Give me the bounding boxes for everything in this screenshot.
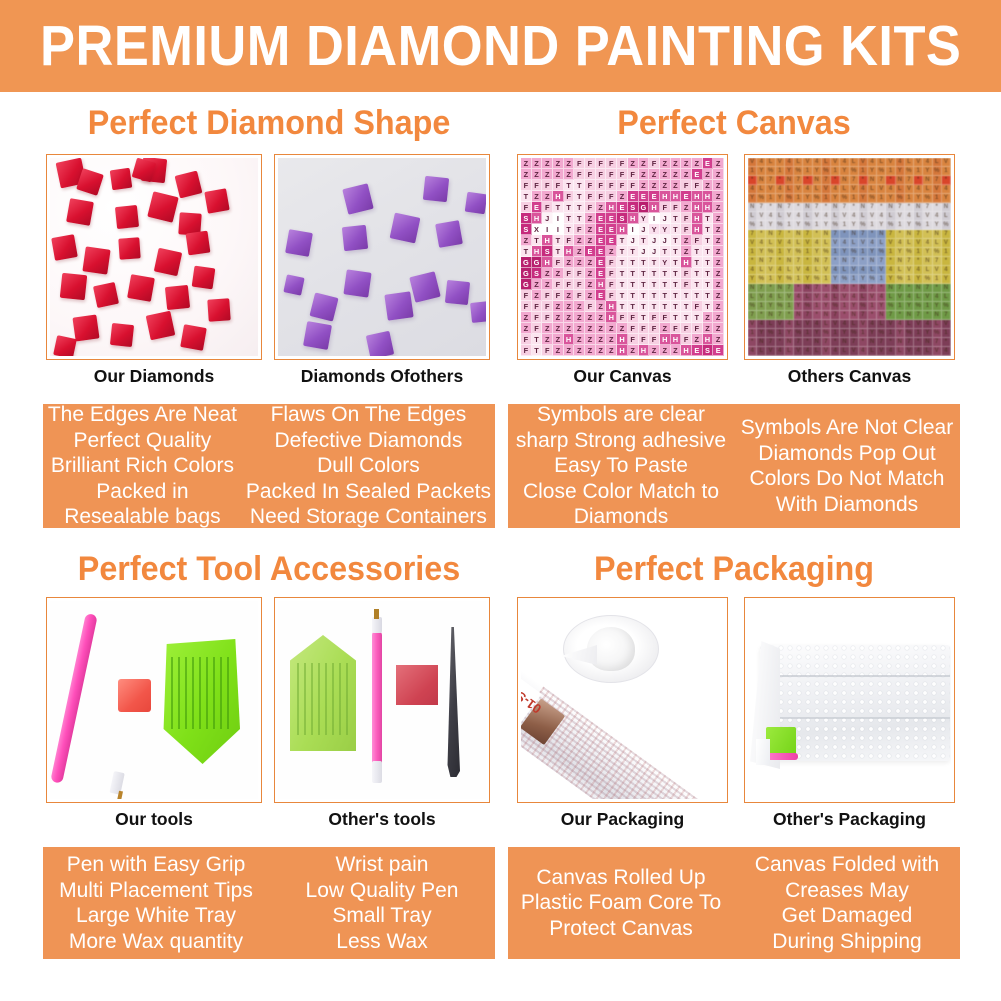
blurry-canvas-cell: 4 (803, 347, 812, 356)
canvas-symbol-cell: Z (713, 235, 724, 246)
canvas-symbol-cell: T (660, 301, 671, 312)
blurry-canvas-cell: V (840, 293, 849, 302)
canvas-symbol-cell: Z (628, 158, 639, 169)
diamond-bead (435, 220, 463, 248)
blurry-canvas-cell: N (942, 203, 951, 212)
blurry-canvas-cell: 7 (776, 230, 785, 239)
blurry-canvas-cell: % (886, 302, 895, 311)
canvas-symbol-cell: T (692, 268, 703, 279)
image-frame-our-canvas: ZZZZZFFFFFZZFZZZZEZZZZZZFFFFFFZZZZZEZZFF… (517, 154, 728, 360)
blurry-canvas-cell: * (933, 203, 942, 212)
canvas-symbol-cell: Z (660, 345, 671, 356)
blurry-canvas-cell: L (840, 266, 849, 275)
feature-item: Packed in (96, 479, 188, 505)
canvas-symbol-cell: Z (553, 312, 564, 323)
canvas-symbol-cell: Z (639, 169, 650, 180)
feature-list-our-tools: Pen with Easy GripMulti Placement TipsLa… (43, 847, 269, 959)
blurry-canvas-cell: 1 (905, 194, 914, 203)
blurry-canvas-cell: L (757, 347, 766, 356)
canvas-symbol-cell: Z (713, 323, 724, 334)
canvas-symbol-cell: F (574, 290, 585, 301)
blurry-canvas-cell: * (748, 176, 757, 185)
blurry-canvas-cell: 7 (785, 284, 794, 293)
canvas-symbol-cell: E (692, 345, 703, 356)
blurry-canvas-cell: L (923, 266, 932, 275)
feature-item: Need Storage Containers (250, 504, 487, 530)
blurry-canvas-cell: * (886, 338, 895, 347)
canvas-symbol-cell: T (617, 279, 628, 290)
blurry-canvas-cell: V (877, 185, 886, 194)
canvas-symbol-cell: Z (596, 345, 607, 356)
blurry-canvas-cell: Y (923, 248, 932, 257)
canvas-symbol-cell: T (660, 290, 671, 301)
blurry-canvas-cell: % (803, 221, 812, 230)
blurry-canvas-cell: L (896, 266, 905, 275)
blurry-canvas-cell: 4 (785, 320, 794, 329)
blurry-canvas-cell: L (822, 320, 831, 329)
blurry-canvas-cell: 7 (748, 230, 757, 239)
blurry-canvas-cell: L (840, 347, 849, 356)
blurry-canvas-cell: 4 (942, 347, 951, 356)
blurry-canvas-cell: % (813, 194, 822, 203)
blurry-canvas-cell: % (850, 329, 859, 338)
blurry-canvas-cell: V (813, 293, 822, 302)
blurry-canvas-cell: * (840, 230, 849, 239)
blurry-canvas-cell: 4 (896, 320, 905, 329)
blurry-canvas-cell: * (859, 257, 868, 266)
section-heading-tools: Perfect Tool Accessories (54, 550, 483, 589)
canvas-symbol-cell: Z (713, 202, 724, 213)
blurry-canvas-cell: 1 (850, 194, 859, 203)
caption-other-packaging: Other's Packaging (744, 809, 955, 830)
canvas-symbol-cell: Z (596, 323, 607, 334)
pink-symbol-canvas-photo: ZZZZZFFFFFZZFZZZZEZZZZZZFFFFFFZZZZZEZZFF… (521, 158, 724, 356)
blurry-canvas-cell: 7 (831, 311, 840, 320)
blurry-canvas-cell: 1 (942, 248, 951, 257)
canvas-symbol-cell: T (649, 290, 660, 301)
blurry-canvas-cell: 1 (886, 248, 895, 257)
blurry-canvas-cell: * (813, 311, 822, 320)
blurry-canvas-cell: 4 (868, 320, 877, 329)
canvas-symbol-cell: Z (681, 202, 692, 213)
blurry-canvas-cell: * (896, 230, 905, 239)
canvas-symbol-cell: I (542, 224, 553, 235)
blurry-canvas-cell: 4 (757, 239, 766, 248)
blurry-canvas-cell: N (905, 230, 914, 239)
blurry-canvas-cell: Y (886, 275, 895, 284)
blurry-canvas-cell: L (933, 239, 942, 248)
blurry-canvas-cell: % (877, 248, 886, 257)
blurry-canvas-cell: % (822, 248, 831, 257)
diamond-bead (127, 274, 155, 302)
blurry-canvas-cell: 7 (942, 230, 951, 239)
canvas-symbol-cell: Z (553, 169, 564, 180)
canvas-symbol-cell: F (671, 202, 682, 213)
feature-list-our-diamonds: The Edges Are NeatPerfect QualityBrillia… (43, 404, 242, 528)
canvas-symbol-cell: Z (574, 334, 585, 345)
blurry-canvas-cell: 7 (886, 311, 895, 320)
blurry-canvas-cell: L (785, 266, 794, 275)
blurry-canvas-cell: 4 (831, 347, 840, 356)
blurry-canvas-cell: % (933, 329, 942, 338)
canvas-symbol-cell: Z (713, 301, 724, 312)
canvas-symbol-cell: F (532, 180, 543, 191)
blurry-canvas-cell: 1 (914, 167, 923, 176)
blurry-canvas-cell: Y (896, 167, 905, 176)
blurry-canvas-cell: N (776, 284, 785, 293)
blurry-canvas-cell: * (923, 230, 932, 239)
canvas-symbol-cell: Z (585, 323, 596, 334)
blurry-canvas-cell: 7 (840, 284, 849, 293)
blurry-canvas-cell: 4 (794, 293, 803, 302)
blurry-canvas-cell: V (766, 185, 775, 194)
blurry-canvas-cell: 7 (905, 257, 914, 266)
blurry-canvas-cell: * (914, 257, 923, 266)
blurry-canvas-cell: Y (813, 167, 822, 176)
canvas-symbol-cell: F (564, 191, 575, 202)
blurry-canvas-cell: N (803, 284, 812, 293)
blurry-canvas-cell: Y (923, 329, 932, 338)
blurry-canvas-cell: * (942, 338, 951, 347)
blurry-canvas-cell: 4 (776, 266, 785, 275)
blurry-canvas-cell: L (868, 266, 877, 275)
canvas-symbol-cell: I (628, 224, 639, 235)
blurry-canvas-cell: L (859, 293, 868, 302)
canvas-symbol-cell: Z (574, 345, 585, 356)
canvas-symbol-cell: S (617, 213, 628, 224)
other-pen-ferrule-bottom (372, 761, 382, 783)
canvas-symbol-cell: Z (713, 257, 724, 268)
small-tray-pen-tweezers-photo (278, 601, 486, 799)
canvas-symbol-cell: T (574, 191, 585, 202)
blurry-canvas-cell: % (868, 275, 877, 284)
canvas-symbol-cell: Z (713, 169, 724, 180)
blurry-canvas-cell: 4 (822, 212, 831, 221)
blurry-canvas-cell: 7 (766, 257, 775, 266)
blurry-canvas-cell: 7 (813, 203, 822, 212)
canvas-symbol-cell: Z (606, 345, 617, 356)
blurry-canvas-cell: V (794, 347, 803, 356)
feature-list-other-diamonds: Flaws On The EdgesDefective DiamondsDull… (242, 404, 495, 528)
blurry-canvas-cell: V (748, 158, 757, 167)
canvas-symbol-cell: F (564, 235, 575, 246)
blurry-canvas-cell: 4 (914, 347, 923, 356)
blurry-canvas-cell: Y (886, 194, 895, 203)
blurry-canvas-cell: 1 (850, 275, 859, 284)
canvas-symbol-cell: F (542, 180, 553, 191)
blurry-canvas-cell: L (886, 212, 895, 221)
canvas-symbol-cell: Z (553, 158, 564, 169)
blurry-canvas-cell: 4 (923, 158, 932, 167)
blurry-canvas-cell: N (831, 203, 840, 212)
canvas-symbol-cell: E (628, 191, 639, 202)
canvas-symbol-cell: Z (585, 312, 596, 323)
blurry-canvas-cell: V (877, 347, 886, 356)
blurry-canvas-cell: * (923, 311, 932, 320)
blurry-canvas-cell: V (766, 347, 775, 356)
feature-item: Symbols Are Not Clear (741, 415, 953, 441)
blurry-canvas-cell: % (942, 221, 951, 230)
blurry-canvas-cell: 7 (859, 311, 868, 320)
blurry-canvas-cell: Y (914, 194, 923, 203)
other-pen-barrel (372, 631, 382, 767)
blurry-canvas-cell: 7 (877, 338, 886, 347)
blurry-canvas-cell: V (896, 212, 905, 221)
blurry-canvas-cell: V (850, 347, 859, 356)
blurry-canvas-cell: 7 (859, 230, 868, 239)
blurry-canvas-cell: Y (831, 275, 840, 284)
blurry-canvas-cell: 7 (942, 311, 951, 320)
section-heading-diamond-shape: Perfect Diamond Shape (54, 104, 483, 143)
blurry-canvas-cell: Y (822, 221, 831, 230)
feature-item: Protect Canvas (549, 916, 693, 942)
blurry-canvas-cell: Y (776, 275, 785, 284)
blurry-canvas-cell: 4 (859, 347, 868, 356)
blurry-canvas-cell: 1 (896, 302, 905, 311)
blurry-canvas-cell: V (933, 266, 942, 275)
canvas-symbol-cell: H (703, 191, 714, 202)
canvas-symbol-cell: Z (617, 323, 628, 334)
blurry-canvas-cell: 4 (803, 185, 812, 194)
canvas-symbol-cell: Z (681, 246, 692, 257)
canvas-symbol-cell: Z (649, 180, 660, 191)
canvas-symbol-cell: Z (532, 191, 543, 202)
canvas-symbol-cell: F (532, 312, 543, 323)
canvas-symbol-cell: Z (713, 180, 724, 191)
canvas-symbol-cell: H (542, 235, 553, 246)
caption-other-canvas: Others Canvas (744, 366, 955, 387)
blurry-canvas-cell: N (757, 338, 766, 347)
diamond-bead (109, 167, 132, 190)
blurry-canvas-cell: V (776, 320, 785, 329)
blurry-canvas-cell: 4 (868, 239, 877, 248)
blurry-canvas-cell: V (859, 320, 868, 329)
blurry-canvas-cell: L (933, 320, 942, 329)
blurry-canvas-cell: 1 (822, 275, 831, 284)
canvas-symbol-cell: Z (564, 257, 575, 268)
blurry-canvas-cell: N (896, 257, 905, 266)
canvas-symbol-cell: H (532, 213, 543, 224)
canvas-symbol-cell: F (617, 169, 628, 180)
canvas-symbol-cell: E (639, 191, 650, 202)
blurry-canvas-cell: Y (933, 221, 942, 230)
blurry-canvas-cell: V (914, 320, 923, 329)
canvas-symbol-cell: T (671, 290, 682, 301)
canvas-symbol-cell: H (564, 246, 575, 257)
blurry-canvas-cell: 1 (840, 221, 849, 230)
canvas-symbol-cell: F (542, 312, 553, 323)
blurry-canvas-cell: 1 (877, 275, 886, 284)
blurry-canvas-cell: % (886, 221, 895, 230)
blurry-canvas-cell: 1 (757, 221, 766, 230)
blurry-canvas-cell: 7 (794, 176, 803, 185)
blurry-canvas-cell: N (757, 176, 766, 185)
blurry-canvas-cell: * (886, 176, 895, 185)
canvas-symbol-cell: J (660, 213, 671, 224)
diamond-bead (365, 330, 393, 356)
blurry-canvas-cell: 4 (794, 212, 803, 221)
canvas-symbol-cell: Z (585, 279, 596, 290)
canvas-symbol-cell: T (617, 290, 628, 301)
canvas-symbol-cell: F (649, 158, 660, 169)
blurry-canvas-cell: Y (794, 302, 803, 311)
blurry-canvas-cell: Y (794, 221, 803, 230)
blurry-canvas-cell: % (933, 248, 942, 257)
blurry-canvas-cell: N (785, 257, 794, 266)
blurry-canvas-cell: 4 (785, 239, 794, 248)
canvas-symbol-cell: F (606, 257, 617, 268)
image-frame-other-packaging (744, 597, 955, 803)
blurry-canvas-cell: 4 (877, 293, 886, 302)
blurry-canvas-cell: * (803, 338, 812, 347)
blurry-canvas-cell: % (794, 167, 803, 176)
canvas-symbol-cell: H (617, 334, 628, 345)
feature-item: With Diamonds (776, 492, 918, 518)
feature-list-other-canvas: Symbols Are Not ClearDiamonds Pop OutCol… (734, 404, 960, 528)
canvas-symbol-cell: E (606, 224, 617, 235)
blurry-canvas-cell: % (850, 248, 859, 257)
blurry-canvas-cell: N (785, 176, 794, 185)
blurry-canvas-cell: V (933, 185, 942, 194)
blurry-canvas-cell: 1 (748, 167, 757, 176)
blurry-canvas-cell: L (896, 185, 905, 194)
blurry-canvas-cell: * (905, 203, 914, 212)
blurry-canvas-cell: 1 (859, 248, 868, 257)
blurry-canvas-cell: 7 (757, 203, 766, 212)
blurry-canvas-cell: V (803, 320, 812, 329)
canvas-symbol-cell: Z (564, 158, 575, 169)
blurry-canvas-cell: N (923, 176, 932, 185)
blurry-canvas-cell: L (794, 158, 803, 167)
blurry-canvas-cell: 1 (868, 302, 877, 311)
blurry-canvas-cell: L (785, 347, 794, 356)
canvas-symbol-cell: G (521, 279, 532, 290)
diamond-bead (191, 266, 215, 290)
blurry-canvas-cell: * (757, 311, 766, 320)
blurry-canvas-cell: 1 (803, 167, 812, 176)
feature-item: Packed In Sealed Packets (246, 479, 491, 505)
feature-item: Perfect Quality (74, 428, 212, 454)
blurry-canvas-cell: N (868, 257, 877, 266)
canvas-symbol-cell: F (596, 169, 607, 180)
blurry-canvas-cell: V (748, 239, 757, 248)
blurry-canvas-cell: 1 (859, 329, 868, 338)
canvas-symbol-cell: F (553, 279, 564, 290)
canvas-symbol-cell: Z (692, 334, 703, 345)
canvas-symbol-cell: S (628, 202, 639, 213)
canvas-symbol-cell: T (628, 246, 639, 257)
canvas-symbol-cell: S (542, 246, 553, 257)
diamond-bead (342, 225, 368, 251)
canvas-symbol-cell: F (542, 301, 553, 312)
canvas-symbol-cell: T (681, 290, 692, 301)
blurry-canvas-cell: * (914, 338, 923, 347)
canvas-symbol-cell: T (564, 213, 575, 224)
diamond-bead (165, 285, 190, 310)
canvas-symbol-cell: Z (713, 268, 724, 279)
canvas-symbol-cell: T (703, 301, 714, 312)
canvas-symbol-cell: Z (596, 334, 607, 345)
canvas-symbol-cell: Z (660, 158, 671, 169)
diamond-bead (283, 274, 304, 295)
canvas-symbol-cell: I (649, 213, 660, 224)
canvas-symbol-cell: S (521, 213, 532, 224)
blurry-canvas-cell: N (766, 311, 775, 320)
feature-list-other-tools: Wrist painLow Quality PenSmall TrayLess … (269, 847, 495, 959)
canvas-symbol-cell: T (639, 312, 650, 323)
canvas-symbol-cell: T (692, 279, 703, 290)
canvas-symbol-cell: T (649, 279, 660, 290)
blurry-canvas-cell: % (822, 167, 831, 176)
feature-panel-diamond-shape: The Edges Are NeatPerfect QualityBrillia… (43, 404, 495, 528)
diamond-bead (422, 176, 448, 202)
blurry-canvas-cell: 4 (942, 266, 951, 275)
canvas-symbol-cell: F (681, 180, 692, 191)
blurry-canvas-cell: 1 (831, 248, 840, 257)
blurry-canvas-cell: 1 (831, 329, 840, 338)
blurry-canvas-cell: % (831, 221, 840, 230)
canvas-symbol-cell: T (564, 202, 575, 213)
canvas-symbol-cell: F (681, 268, 692, 279)
canvas-symbol-cell: E (532, 202, 543, 213)
canvas-symbol-cell: Z (564, 345, 575, 356)
blurry-canvas-cell: 7 (850, 338, 859, 347)
blurry-canvas-cell: 4 (896, 239, 905, 248)
diamond-bead (208, 298, 231, 321)
blurry-canvas-cell: 7 (914, 230, 923, 239)
feature-panel-tools: Pen with Easy GripMulti Placement TipsLa… (43, 847, 495, 959)
canvas-symbol-cell: Z (671, 345, 682, 356)
blurry-canvas-cell: 1 (840, 302, 849, 311)
blurry-canvas-cell: N (877, 230, 886, 239)
blurry-canvas-cell: * (757, 230, 766, 239)
canvas-symbol-cell: T (617, 257, 628, 268)
canvas-symbol-cell: H (660, 334, 671, 345)
canvas-symbol-cell: F (532, 323, 543, 334)
blurry-canvas-cell: 1 (813, 221, 822, 230)
canvas-symbol-cell: H (628, 213, 639, 224)
blurry-canvas-cell: 1 (757, 302, 766, 311)
blurry-canvas-cell: Y (776, 194, 785, 203)
blurry-canvas-cell: L (886, 293, 895, 302)
blurry-canvas-cell: L (942, 293, 951, 302)
canvas-symbol-cell: F (649, 323, 660, 334)
canvas-symbol-cell: F (596, 180, 607, 191)
blurry-canvas-cell: V (831, 158, 840, 167)
blurry-canvas-cell: 7 (776, 311, 785, 320)
canvas-symbol-cell: T (703, 279, 714, 290)
blurry-canvas-cell: L (914, 293, 923, 302)
blurry-canvas-cell: V (757, 212, 766, 221)
blurry-canvas-cell: L (748, 293, 757, 302)
blurry-canvas-cell: 1 (813, 302, 822, 311)
blurry-canvas-cell: * (794, 284, 803, 293)
page-header-band: PREMIUM DIAMOND PAINTING KITS (0, 0, 1001, 92)
canvas-symbol-cell: Z (574, 246, 585, 257)
canvas-symbol-cell: Z (713, 290, 724, 301)
image-frame-other-tools (274, 597, 490, 803)
canvas-symbol-cell: F (553, 257, 564, 268)
canvas-symbol-cell: H (553, 191, 564, 202)
canvas-symbol-cell: H (681, 257, 692, 268)
blurry-canvas-cell: % (785, 275, 794, 284)
canvas-symbol-cell: H (606, 202, 617, 213)
canvas-symbol-cell: Z (606, 323, 617, 334)
canvas-symbol-cell: T (671, 301, 682, 312)
canvas-symbol-cell: Z (713, 334, 724, 345)
blurry-canvas-cell: 7 (757, 284, 766, 293)
canvas-symbol-cell: T (660, 279, 671, 290)
